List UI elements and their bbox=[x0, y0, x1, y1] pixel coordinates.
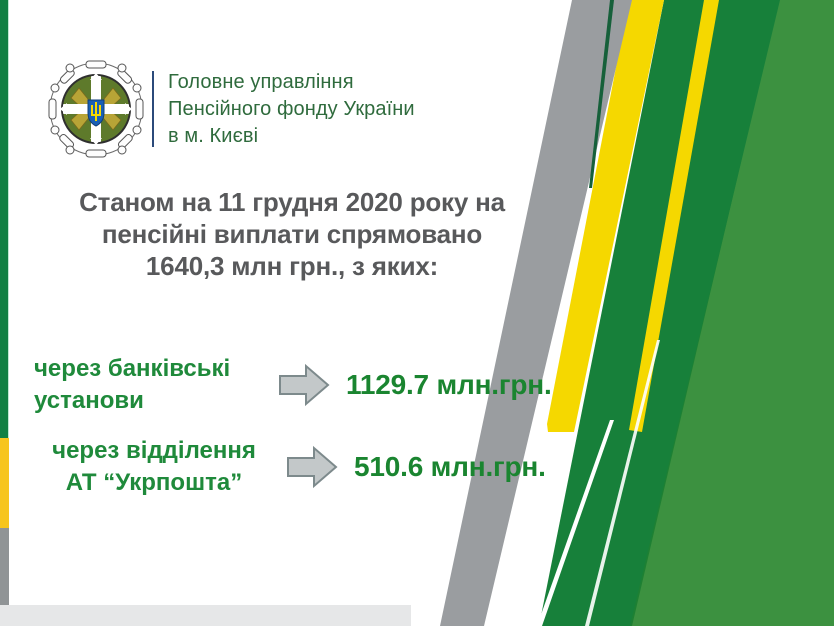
org-line-3: в м. Києві bbox=[168, 123, 415, 150]
bottom-gray-band-icon bbox=[0, 605, 411, 626]
arrow-right-icon bbox=[278, 363, 330, 407]
breakdown-label-ukrposhta-line-2: АТ “Укрпошта” bbox=[66, 469, 242, 496]
header-logo-block: Головне управління Пенсійного фонду Укра… bbox=[46, 58, 415, 160]
org-line-1: Головне управління bbox=[168, 69, 415, 96]
slide-canvas: Головне управління Пенсійного фонду Укра… bbox=[0, 0, 834, 626]
diagonal-stripes-decoration-icon bbox=[414, 0, 834, 626]
left-edge-yellow-segment bbox=[0, 438, 9, 528]
headline: Станом на 11 грудня 2020 року на пенсійн… bbox=[52, 186, 532, 282]
breakdown-label-bank-line-1: через банківські bbox=[34, 355, 230, 382]
breakdown-label-bank: через банківські установи bbox=[34, 353, 274, 417]
left-edge-gray-segment bbox=[0, 528, 9, 606]
org-line-2: Пенсійного фонду України bbox=[168, 96, 415, 123]
pension-fund-emblem-icon bbox=[46, 58, 146, 160]
breakdown-label-ukrposhta-line-1: через відділення bbox=[52, 437, 256, 464]
arrow-right-icon bbox=[286, 445, 338, 489]
headline-line-2: пенсійні виплати спрямовано bbox=[52, 218, 532, 250]
vertical-divider-icon bbox=[152, 71, 154, 147]
left-edge-highlight-line bbox=[8, 0, 9, 438]
breakdown-label-ukrposhta: через відділення АТ “Укрпошта” bbox=[34, 435, 282, 499]
breakdown-list: через банківські установи 1129.7 млн.грн… bbox=[34, 344, 544, 508]
breakdown-value-bank: 1129.7 млн.грн. bbox=[346, 369, 552, 401]
breakdown-value-ukrposhta: 510.6 млн.грн. bbox=[354, 451, 546, 483]
headline-line-1: Станом на 11 грудня 2020 року на bbox=[52, 186, 532, 218]
breakdown-label-bank-line-2: установи bbox=[34, 387, 144, 414]
breakdown-row-ukrposhta: через відділення АТ “Укрпошта” 510.6 млн… bbox=[34, 426, 544, 508]
breakdown-row-bank: через банківські установи 1129.7 млн.грн… bbox=[34, 344, 544, 426]
left-edge-strip-icon bbox=[0, 0, 9, 606]
organization-name: Головне управління Пенсійного фонду Укра… bbox=[168, 69, 415, 150]
headline-line-3: 1640,3 млн грн., з яких: bbox=[52, 250, 532, 282]
